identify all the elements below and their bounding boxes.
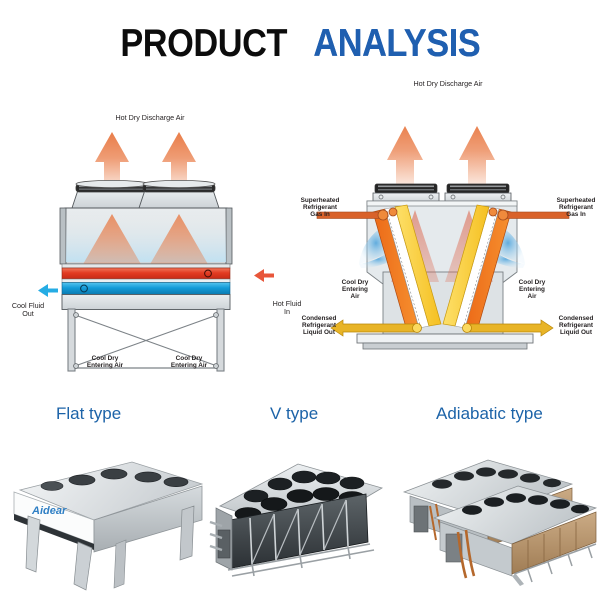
label-cool-dry-entering-air-right: Cool Dry Entering Air	[156, 355, 222, 369]
cool-fluid-out-arrow	[38, 284, 58, 297]
type-label-adiabatic: Adiabatic type	[396, 404, 600, 424]
label-cool-dry-entering-air-left: Cool Dry Entering Air	[331, 279, 379, 301]
label-cool-fluid-out: Cool Fluid Out	[0, 302, 56, 318]
lower-housing	[357, 272, 533, 349]
product-type-adiabatic[interactable]: Adiabatic type	[396, 392, 600, 600]
label-cool-dry-entering-air-left: Cool Dry Entering Air	[72, 355, 138, 369]
leg	[26, 516, 40, 572]
label-cool-dry-entering-air-right: Cool Dry Entering Air	[508, 279, 556, 301]
hot-discharge-arrow-right	[459, 126, 495, 188]
brand-logo-aidear: Aidear	[31, 505, 67, 517]
v-type-unit-photo	[206, 444, 396, 594]
adiabatic-type-unit-photo	[396, 444, 600, 594]
schematics-row: Hot Dry Discharge Air Cool Fluid Out Hot…	[0, 72, 600, 362]
leg	[180, 506, 194, 560]
control-box	[218, 530, 230, 558]
label-condensed-liquid-out-left: Condensed Refrigerant Liquid Out	[291, 315, 347, 337]
label-superheated-gas-in-right: Superheated Refrigerant Gas In	[547, 197, 600, 219]
title-word-analysis: ANALYSIS	[313, 22, 480, 66]
hot-discharge-arrow-left	[387, 126, 423, 188]
product-analysis-page: PRODUCTANALYSIS	[0, 0, 600, 600]
label-hot-dry-discharge-air: Hot Dry Discharge Air	[353, 80, 543, 88]
page-title: PRODUCTANALYSIS	[0, 22, 600, 66]
v-type-schematic: Hot Dry Discharge Air Superheated Refrig…	[295, 72, 600, 362]
type-label-flat: Flat type	[6, 404, 206, 424]
coil-header-bands	[62, 264, 230, 310]
hot-fluid-in-arrow	[254, 269, 274, 282]
title-word-product: PRODUCT	[120, 22, 287, 66]
flat-type-unit-photo: Aidear	[6, 444, 206, 594]
product-type-v[interactable]: V type	[206, 392, 396, 600]
fan-unit-left	[373, 184, 439, 201]
label-superheated-gas-in-left: Superheated Refrigerant Gas In	[291, 197, 349, 219]
cabinet-body	[60, 208, 232, 264]
product-types-row: Flat type	[0, 392, 600, 600]
label-condensed-liquid-out-right: Condensed Refrigerant Liquid Out	[548, 315, 600, 337]
label-hot-dry-discharge-air: Hot Dry Discharge Air	[62, 114, 238, 122]
leg	[114, 540, 126, 588]
product-type-flat[interactable]: Flat type	[6, 392, 206, 600]
fan-unit-right	[139, 180, 219, 208]
type-label-v: V type	[206, 404, 396, 424]
fan-unit-right	[445, 184, 511, 201]
leg	[74, 542, 92, 590]
flat-type-schematic: Hot Dry Discharge Air Cool Fluid Out Hot…	[0, 72, 300, 362]
